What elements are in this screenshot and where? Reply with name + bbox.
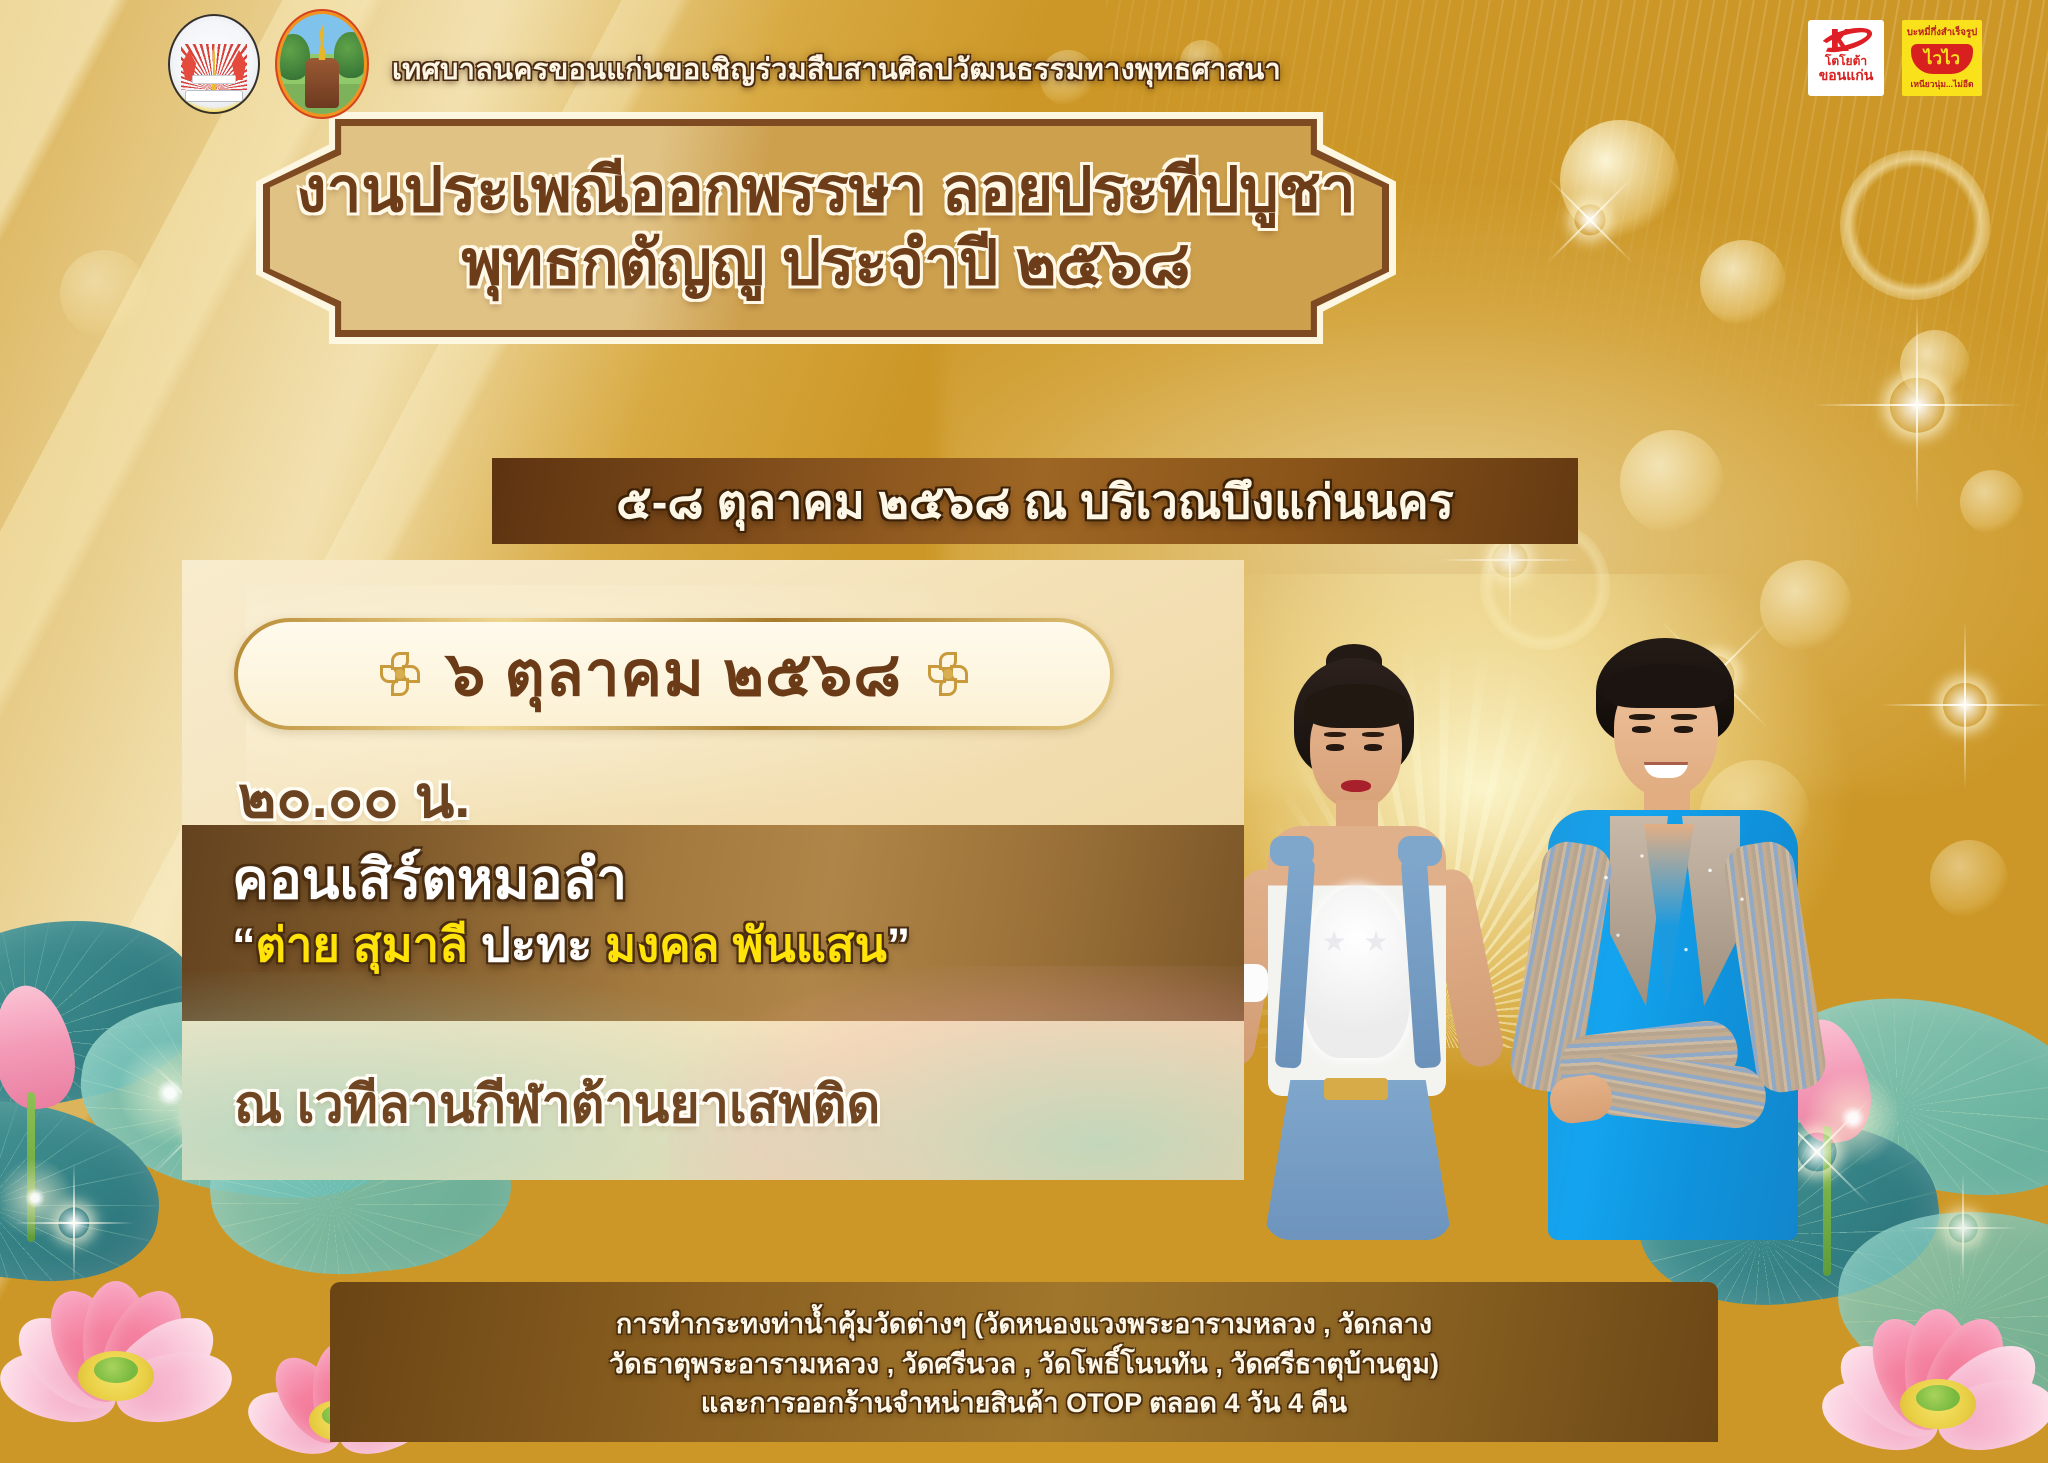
footer-line-3: และการออกร้านจำหน่ายสินค้า OTOP ตลอด 4 ว… <box>701 1386 1347 1421</box>
title-line-1: งานประเพณีออกพรรษา ลอยประทีปบูชา <box>296 156 1355 227</box>
phra-that-kham-kaen-seal-icon <box>280 14 364 114</box>
quote-close: ” <box>887 918 911 971</box>
poster-header: เทศบาลนครขอนแก่นขอเชิญร่วมสืบสานศิลปวัฒน… <box>0 0 2048 120</box>
artist-name-2: มงคล พันแสน <box>605 918 886 971</box>
sponsor-logo-waiwai: บะหมี่กึ่งสำเร็จรูป ไวไว เหนียวนุ่ม...ไม… <box>1902 20 1982 96</box>
event-venue: ณ เวทีลานกีฬาต้านยาเสพติด <box>234 1062 880 1145</box>
date-range-bar: ๕-๘ ตุลาคม ๒๕๖๘ ณ บริเวณบึงแก่นนคร <box>492 458 1578 544</box>
performers-photo: ★★ <box>1190 600 1830 1240</box>
waiwai-tagline-top: บะหมี่กึ่งสำเร็จรูป <box>1907 25 1977 40</box>
artist-name-1: ต่าย สุมาลี <box>256 918 468 971</box>
quote-open: “ <box>232 918 256 971</box>
event-detail-card: ๖ ตุลาคม ๒๕๖๘ ๒๐.๐๐ น. คอนเสิร์ตหมอลำ “ต… <box>182 560 1244 1180</box>
concert-lineup: “ต่าย สุมาลี ปะทะ มงคล พันแสน” <box>232 916 1230 973</box>
footer-line-1: การทำกระทงท่าน้ำคุ้มวัดต่างๆ (วัดหนองแวง… <box>616 1307 1432 1342</box>
concert-heading: คอนเสิร์ตหมอลำ <box>232 848 1230 912</box>
ornament-diamond-left-icon <box>380 652 420 696</box>
waiwai-tagline-bottom: เหนียวนุ่ม...ไม่อืด <box>1910 77 1973 91</box>
versus-label: ปะทะ <box>468 918 605 971</box>
performer-female: ★★ <box>1208 640 1508 1240</box>
khonkaen-municipality-seal-icon <box>168 14 260 114</box>
page-title: งานประเพณีออกพรรษา ลอยประทีปบูชา พุทธกตั… <box>256 112 1396 344</box>
event-date-text: ๖ ตุลาคม ๒๕๖๘ <box>446 625 902 723</box>
title-banner: งานประเพณีออกพรรษา ลอยประทีปบูชา พุทธกตั… <box>256 112 1396 344</box>
toyota-label-line1: โตโยต้า <box>1825 55 1867 68</box>
waiwai-brand: ไวไว <box>1911 44 1973 74</box>
toyota-label-line2: ขอนแก่น <box>1819 68 1874 83</box>
event-date-pill: ๖ ตุลาคม ๒๕๖๘ <box>234 618 1114 730</box>
performer-male <box>1504 628 1824 1240</box>
title-line-2: พุทธกตัญญู ประจำปี ๒๕๖๘ <box>462 229 1191 300</box>
footer-note: การทำกระทงท่าน้ำคุ้มวัดต่างๆ (วัดหนองแวง… <box>330 1282 1718 1442</box>
concert-info: คอนเสิร์ตหมอลำ “ต่าย สุมาลี ปะทะ มงคล พั… <box>232 848 1230 973</box>
festival-poster: เทศบาลนครขอนแก่นขอเชิญร่วมสืบสานศิลปวัฒน… <box>0 0 2048 1463</box>
ornament-diamond-right-icon <box>928 652 968 696</box>
sponsor-logo-toyota: โตโยต้า ขอนแก่น <box>1808 20 1884 96</box>
event-time: ๒๐.๐๐ น. <box>238 750 470 843</box>
invitation-text: เทศบาลนครขอนแก่นขอเชิญร่วมสืบสานศิลปวัฒน… <box>392 46 1281 92</box>
footer-line-2: วัดธาตุพระอารามหลวง , วัดศรีนวล , วัดโพธ… <box>609 1347 1439 1382</box>
